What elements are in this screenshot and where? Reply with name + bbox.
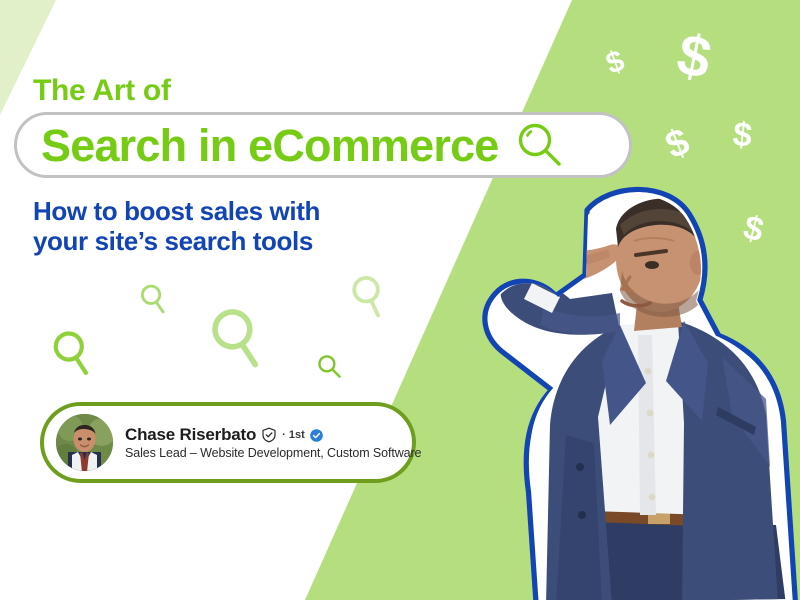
poster-canvas: $$$$$ The Art of Search in eCommerce How… <box>0 0 800 600</box>
deco-magnifier-tiny-bottom <box>318 355 342 379</box>
connection-degree: · 1st <box>282 429 305 441</box>
shield-check-icon <box>261 427 277 443</box>
profile-card[interactable]: Chase Riserbato · 1st Sales Lead – Websi… <box>40 402 416 483</box>
dollar-sign-icon: $ <box>731 117 753 153</box>
subheadline-text: How to boost sales with your site’s sear… <box>33 196 320 257</box>
verified-badge-icon <box>310 429 323 442</box>
search-input-value[interactable]: Search in eCommerce <box>41 123 499 168</box>
deco-magnifier-small-left <box>48 328 98 378</box>
avatar <box>56 414 113 471</box>
magnifier-icon[interactable] <box>513 118 567 172</box>
person-photo-cutout <box>470 185 800 600</box>
profile-name-row: Chase Riserbato · 1st <box>125 425 421 445</box>
eyebrow-text: The Art of <box>33 74 171 108</box>
deco-magnifier-large-center <box>205 305 271 371</box>
profile-name: Chase Riserbato <box>125 425 256 445</box>
profile-card-text: Chase Riserbato · 1st Sales Lead – Websi… <box>125 425 421 460</box>
search-bar[interactable]: Search in eCommerce <box>14 112 632 178</box>
deco-magnifier-tiny-top <box>138 283 170 315</box>
profile-role: Sales Lead – Website Development, Custom… <box>125 446 421 460</box>
